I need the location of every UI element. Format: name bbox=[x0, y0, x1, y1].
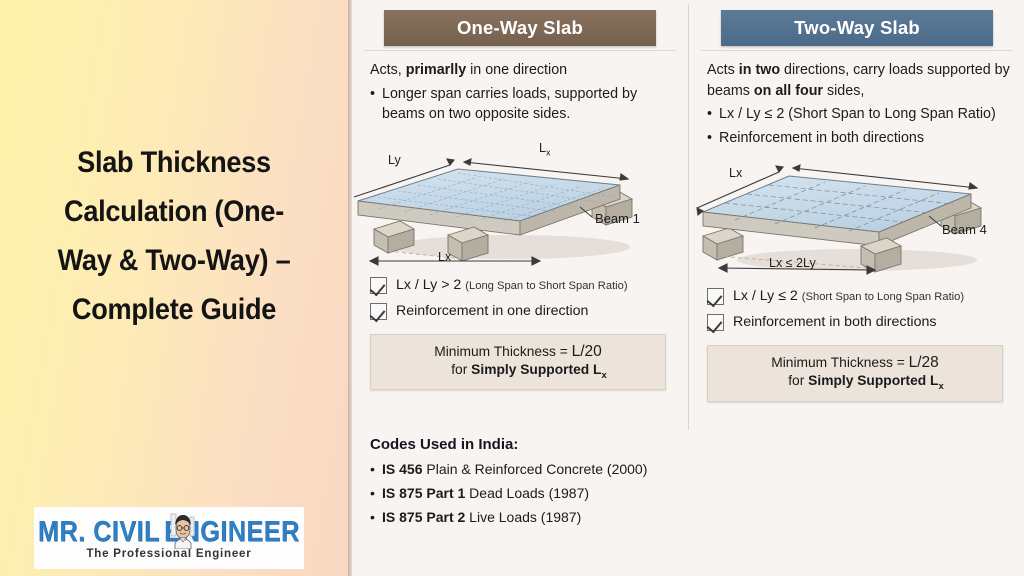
brand-logo: MR. CIVIL ENGINEER The Professional Engi… bbox=[34, 507, 304, 569]
two-way-slab-diagram: Lx Lx ≤ 2Ly Beam 4 bbox=[689, 150, 1024, 280]
two-way-check-2-text: Reinforcement in both directions bbox=[733, 313, 936, 331]
content-panel: One-Way Slab Acts, primarlly in one dire… bbox=[352, 0, 1024, 576]
code-item-3: • IS 875 Part 2 Live Loads (1987) bbox=[370, 509, 1024, 525]
two-way-slab-column: Two-Way Slab Acts in two directions, car… bbox=[689, 0, 1024, 430]
one-way-check-1-text: Lx / Ly > 2 (Long Span to Short Span Rat… bbox=[396, 276, 628, 295]
checkbox-checked-icon[interactable] bbox=[707, 288, 724, 305]
two-way-check-1: Lx / Ly ≤ 2 (Short Span to Long Span Rat… bbox=[707, 280, 1015, 306]
one-way-formula-support: Simply Supported L bbox=[471, 362, 601, 377]
code-item-3-desc: Live Loads (1987) bbox=[465, 509, 581, 525]
code-item-1-code: IS 456 bbox=[382, 461, 422, 477]
two-way-formula-prefix: Minimum Thickness = bbox=[771, 355, 908, 370]
codes-title: Codes Used in India: bbox=[370, 436, 1024, 453]
bullet-dot-icon: • bbox=[370, 461, 382, 477]
two-way-intro-b: in two bbox=[739, 62, 780, 78]
one-way-formula-prefix: Minimum Thickness = bbox=[434, 344, 571, 359]
two-way-header: Two-Way Slab bbox=[721, 10, 993, 46]
bullet-dot-icon: • bbox=[370, 485, 382, 501]
title-line-4: Complete Guide bbox=[30, 285, 317, 334]
code-item-2: • IS 875 Part 1 Dead Loads (1987) bbox=[370, 485, 1024, 501]
bullet-dot-icon: • bbox=[370, 509, 382, 525]
one-way-intro: Acts, primarlly in one direction bbox=[370, 60, 674, 81]
two-way-intro: Acts in two directions, carry loads supp… bbox=[707, 60, 1011, 101]
one-way-slab-diagram: Lx Ly Lx Beam 1 bbox=[352, 129, 688, 269]
one-way-bullet-1: • Longer span carries loads, supported b… bbox=[370, 84, 674, 125]
two-way-formula-value: L/28 bbox=[909, 354, 939, 371]
code-item-1-desc: Plain & Reinforced Concrete (2000) bbox=[422, 461, 647, 477]
one-way-formula-sub: x bbox=[601, 369, 606, 380]
two-way-check-2: Reinforcement in both directions bbox=[707, 306, 1015, 331]
one-way-formula-value: L/20 bbox=[572, 343, 602, 360]
code-item-3-code: IS 875 Part 2 bbox=[382, 509, 465, 525]
engineer-portrait-icon bbox=[163, 509, 203, 549]
two-way-label-bottom: Lx ≤ 2Ly bbox=[769, 256, 816, 270]
title-line-3: Way & Two-Way) – bbox=[30, 236, 317, 285]
one-way-check-2: Reinforcement in one direction bbox=[370, 295, 678, 320]
logo-wordmark: MR. CIVIL ENGINEER bbox=[34, 516, 304, 547]
logo-word-left: MR. CIVIL bbox=[38, 514, 160, 549]
two-way-intro-e: sides, bbox=[823, 83, 864, 99]
two-way-intro-d: on all four bbox=[754, 83, 823, 99]
one-way-formula-for: for bbox=[451, 362, 471, 377]
two-way-formula-box: Minimum Thickness = L/28 for Simply Supp… bbox=[707, 345, 1003, 402]
two-way-formula-sub: x bbox=[938, 381, 943, 392]
two-way-check-1-text: Lx / Ly ≤ 2 (Short Span to Long Span Rat… bbox=[733, 287, 964, 306]
two-way-bullet-2-text: Reinforcement in both directions bbox=[719, 128, 1011, 149]
code-item-1-text: IS 456 Plain & Reinforced Concrete (2000… bbox=[382, 461, 647, 477]
two-way-bullet-1: • Lx / Ly ≤ 2 (Short Span to Long Span R… bbox=[707, 104, 1011, 125]
two-way-bullet-2: • Reinforcement in both directions bbox=[707, 128, 1011, 149]
one-way-check-2-text: Reinforcement in one direction bbox=[396, 302, 588, 320]
one-way-slab-column: One-Way Slab Acts, primarlly in one dire… bbox=[352, 0, 688, 430]
checkbox-checked-icon[interactable] bbox=[370, 277, 387, 294]
one-way-formula-box: Minimum Thickness = L/20 for Simply Supp… bbox=[370, 334, 666, 391]
one-way-intro-c: in one direction bbox=[466, 62, 567, 78]
page-title: Slab Thickness Calculation (One- Way & T… bbox=[0, 138, 348, 334]
title-line-2: Calculation (One- bbox=[30, 187, 317, 236]
two-way-check-1-note: (Short Span to Long Span Ratio) bbox=[802, 291, 964, 303]
one-way-label-beam: Beam 1 bbox=[595, 211, 640, 226]
one-way-formula-line2: for Simply Supported Lx bbox=[381, 362, 655, 381]
one-way-intro-a: Acts, bbox=[370, 62, 406, 78]
one-way-check-1-note: (Long Span to Short Span Ratio) bbox=[465, 280, 627, 292]
one-way-header-rule bbox=[364, 50, 676, 51]
codes-section: Codes Used in India: • IS 456 Plain & Re… bbox=[352, 436, 1024, 525]
code-item-2-code: IS 875 Part 1 bbox=[382, 485, 465, 501]
two-way-formula-support: Simply Supported L bbox=[808, 373, 938, 388]
one-way-label-left: Ly bbox=[388, 153, 401, 167]
left-title-panel: Slab Thickness Calculation (One- Way & T… bbox=[0, 0, 348, 576]
bullet-dot-icon: • bbox=[707, 104, 719, 125]
checkbox-checked-icon[interactable] bbox=[707, 314, 724, 331]
two-way-formula-for: for bbox=[788, 373, 808, 388]
two-way-header-rule bbox=[701, 50, 1013, 51]
one-way-label-bottom: Lx bbox=[438, 250, 451, 264]
code-item-1: • IS 456 Plain & Reinforced Concrete (20… bbox=[370, 461, 1024, 477]
one-way-intro-b: primarlly bbox=[406, 62, 466, 78]
two-way-formula-line1: Minimum Thickness = L/28 bbox=[718, 354, 992, 372]
two-way-formula-line2: for Simply Supported Lx bbox=[718, 373, 992, 392]
one-way-formula-line1: Minimum Thickness = L/20 bbox=[381, 343, 655, 361]
code-item-2-desc: Dead Loads (1987) bbox=[465, 485, 589, 501]
two-way-label-left: Lx bbox=[729, 166, 742, 180]
one-way-check-1: Lx / Ly > 2 (Long Span to Short Span Rat… bbox=[370, 269, 678, 295]
two-way-intro-a: Acts bbox=[707, 62, 739, 78]
one-way-header: One-Way Slab bbox=[384, 10, 656, 46]
two-way-label-beam: Beam 4 bbox=[942, 222, 987, 237]
logo-tagline: The Professional Engineer bbox=[86, 548, 251, 560]
bullet-dot-icon: • bbox=[370, 84, 382, 125]
code-item-2-text: IS 875 Part 1 Dead Loads (1987) bbox=[382, 485, 589, 501]
title-line-1: Slab Thickness bbox=[30, 138, 317, 187]
two-way-check-1-main: Lx / Ly ≤ 2 bbox=[733, 288, 802, 304]
bullet-dot-icon: • bbox=[707, 128, 719, 149]
one-way-check-1-main: Lx / Ly > 2 bbox=[396, 277, 465, 293]
code-item-3-text: IS 875 Part 2 Live Loads (1987) bbox=[382, 509, 581, 525]
checkbox-checked-icon[interactable] bbox=[370, 303, 387, 320]
two-way-bullet-1-text: Lx / Ly ≤ 2 (Short Span to Long Span Rat… bbox=[719, 104, 1011, 125]
one-way-label-top: Lx bbox=[539, 141, 550, 158]
one-way-bullet-1-text: Longer span carries loads, supported by … bbox=[382, 84, 674, 125]
